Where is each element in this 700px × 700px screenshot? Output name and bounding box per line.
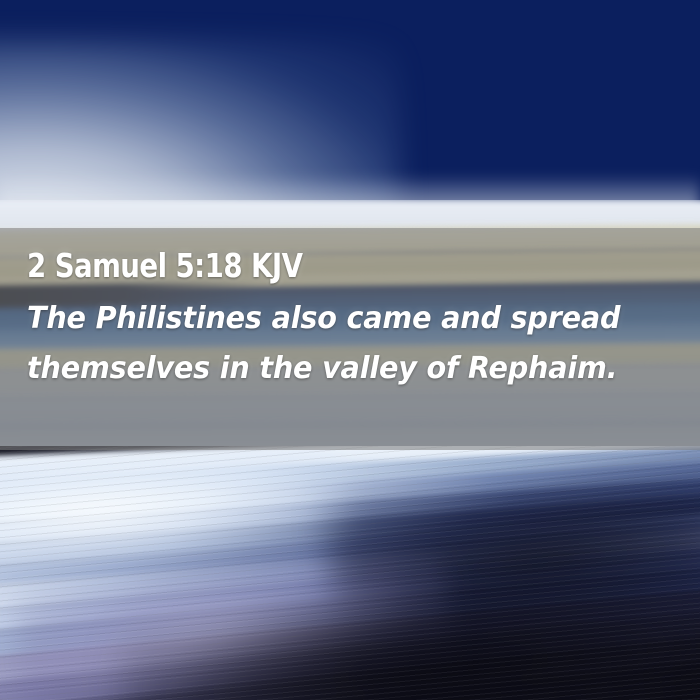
verse-body: The Philistines also came and spread the… — [27, 294, 687, 394]
verse-line-1: The Philistines also came and spread — [27, 294, 657, 344]
verse-line-2: themselves in the valley of Rephaim. — [27, 344, 657, 394]
caption-text-block: 2 Samuel 5:18 KJV The Philistines also c… — [0, 228, 700, 450]
water-dark-streaks — [0, 446, 700, 700]
verse-reference-title: 2 Samuel 5:18 KJV — [27, 246, 302, 285]
water-background — [0, 446, 700, 700]
bible-verse-card: 2 Samuel 5:18 KJV The Philistines also c… — [0, 0, 700, 700]
